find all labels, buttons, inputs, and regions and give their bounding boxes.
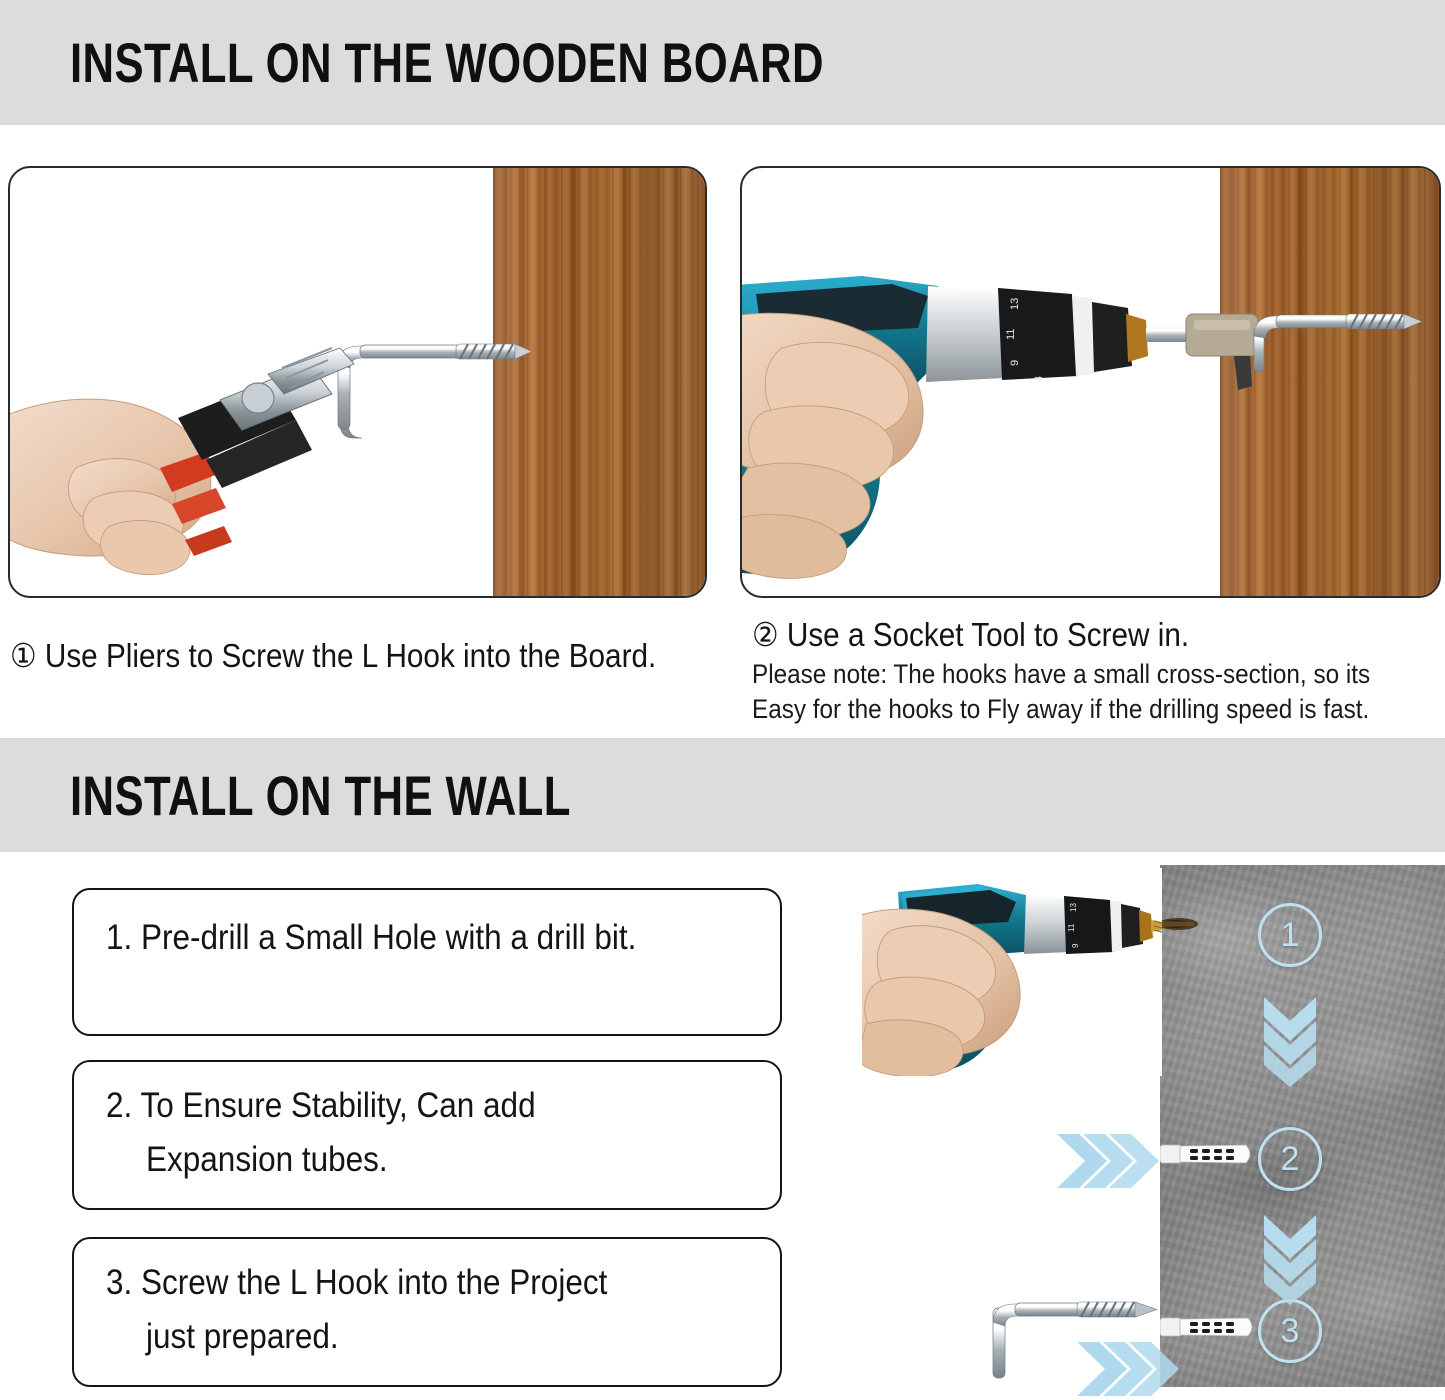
wall-step-number-3: 3: [1258, 1299, 1322, 1363]
photo-wall-drilling: 13 11 9: [862, 868, 1162, 1076]
svg-text:13: 13: [1069, 903, 1078, 912]
caption-marker-1: ①: [10, 637, 37, 674]
caption-marker-2: ②: [752, 616, 779, 653]
caption-note-line-1: Please note: The hooks have a small cros…: [752, 659, 1370, 690]
step-box-2: 2. To Ensure Stability, Can add Expansio…: [72, 1060, 782, 1210]
pliers-in-hand-icon: [10, 168, 705, 596]
chevron-down-icon-1: [1260, 995, 1320, 1087]
svg-text:9: 9: [1071, 943, 1080, 948]
svg-text:11: 11: [1067, 923, 1076, 932]
infographic-page: INSTALL ON THE WOODEN BOARD: [0, 0, 1445, 1387]
photo-panel-pliers: [8, 166, 707, 598]
cordless-drill-icon: 13 11 9 4: [742, 168, 1439, 596]
svg-text:11: 11: [1005, 329, 1017, 340]
cordless-drill-wall-icon: 13 11 9: [862, 868, 1162, 1076]
step-box-3-line-2: just prepared.: [146, 1317, 339, 1357]
l-hook-icon-step-3: [985, 1292, 1175, 1392]
drill-socket-scene: 13 11 9 4: [742, 168, 1439, 596]
caption-step-2-group: ② Use a Socket Tool to Screw in. Please …: [752, 615, 1439, 725]
chevron-down-icon-2: [1260, 1213, 1320, 1305]
caption-step-2: ② Use a Socket Tool to Screw in.: [752, 615, 1370, 654]
expansion-anchor-icon-2: [1160, 1133, 1260, 1173]
photo-panel-drill-socket: 13 11 9 4: [740, 166, 1441, 598]
wall-step-number-1: 1: [1258, 903, 1322, 967]
wall-step-number-2: 2: [1258, 1127, 1322, 1191]
step-box-3: 3. Screw the L Hook into the Project jus…: [72, 1237, 782, 1387]
caption-text-1: Use Pliers to Screw the L Hook into the …: [45, 637, 656, 674]
svg-text:4: 4: [1033, 376, 1045, 382]
section-title-wooden-board: INSTALL ON THE WOODEN BOARD: [70, 30, 824, 95]
pliers-scene: [10, 168, 705, 596]
caption-text-2: Use a Socket Tool to Screw in.: [787, 616, 1189, 653]
caption-note-line-2: Easy for the hooks to Fly away if the dr…: [752, 694, 1370, 725]
step-box-1-line-1: 1. Pre-drill a Small Hole with a drill b…: [106, 918, 636, 958]
section-header-wooden-board: INSTALL ON THE WOODEN BOARD: [0, 0, 1445, 125]
section-title-wall: INSTALL ON THE WALL: [70, 763, 571, 828]
svg-text:13: 13: [1009, 298, 1021, 310]
chevron-right-icon-2: [1055, 1130, 1160, 1192]
svg-text:9: 9: [1009, 360, 1021, 366]
step-box-2-line-1: 2. To Ensure Stability, Can add: [106, 1086, 536, 1126]
caption-step-1: ① Use Pliers to Screw the L Hook into th…: [10, 636, 656, 675]
step-box-1: 1. Pre-drill a Small Hole with a drill b…: [72, 888, 782, 1036]
drilled-hole-icon: [1160, 909, 1230, 939]
concrete-wall-panel: 1 2 3: [1160, 865, 1445, 1387]
step-box-2-line-2: Expansion tubes.: [146, 1140, 388, 1180]
section-header-wall: INSTALL ON THE WALL: [0, 738, 1445, 852]
step-box-3-line-1: 3. Screw the L Hook into the Project: [106, 1263, 607, 1303]
